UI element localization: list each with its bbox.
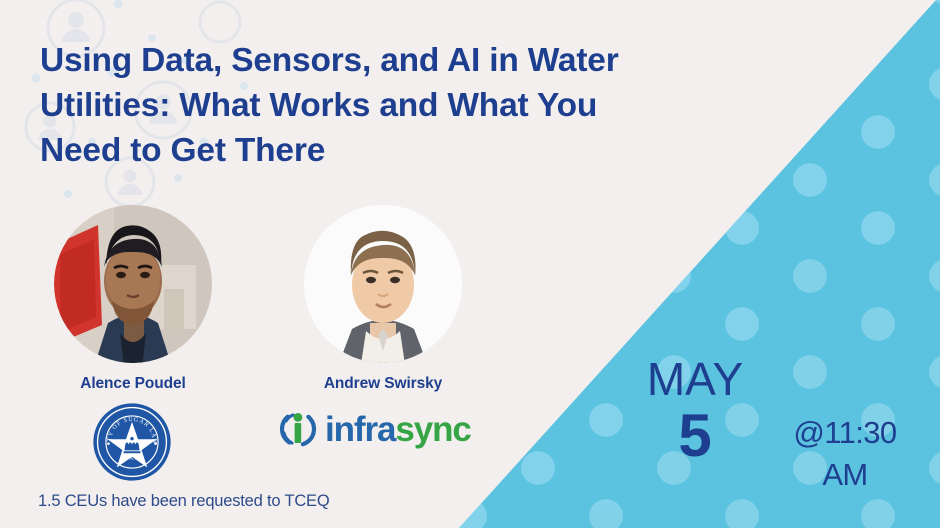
speaker-card-2: Andrew Swirsky [288,205,478,393]
headshot-alence-poudel-icon [54,205,212,363]
infrasync-logo: infrasync [278,409,471,449]
event-time-line-1: @11:30 [770,412,920,454]
title-line-1: Using Data, Sensors, and AI in Water [40,38,760,83]
speakers-row: Alence Poudel [38,205,478,393]
event-month: MAY [620,355,770,403]
event-date-block: MAY 5 [620,355,770,467]
event-time-line-2: AM [770,454,920,496]
infrasync-word-part-2: sync [395,410,470,449]
avatar [304,205,462,363]
webinar-promo-poster: Using Data, Sensors, and AI in Water Uti… [0,0,940,528]
ceu-note: 1.5 CEUs have been requested to TCEQ [38,492,330,511]
infrasync-mark-icon [278,409,318,449]
speaker-name: Alence Poudel [38,375,228,393]
speaker-card-1: Alence Poudel [38,205,228,393]
avatar [54,205,212,363]
headshot-andrew-swirsky-icon [304,205,462,363]
speaker-name: Andrew Swirsky [288,375,478,393]
event-day: 5 [620,405,770,467]
infrasync-wordmark: infrasync [325,412,471,447]
title-line-2: Utilities: What Works and What You [40,83,760,128]
city-of-sugar-land-seal-logo-icon: CITY OF SUGAR LAND TEXAS [90,400,174,484]
infrasync-word-part-1: infra [325,410,395,449]
event-time-block: @11:30 AM [770,412,920,496]
title-line-3: Need to Get There [40,128,760,173]
page-title: Using Data, Sensors, and AI in Water Uti… [40,38,760,173]
